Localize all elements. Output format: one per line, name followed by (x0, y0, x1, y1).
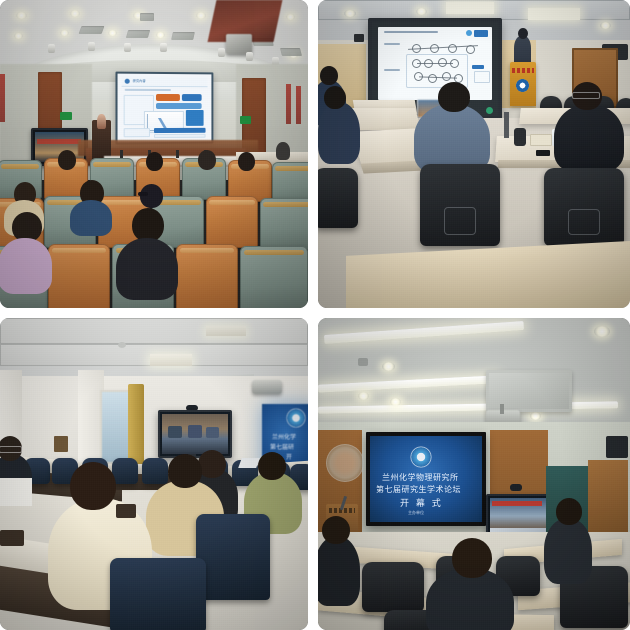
attendee-head (198, 450, 226, 478)
chair (142, 458, 168, 484)
auditorium-seat (206, 196, 258, 248)
auditorium-seat (48, 244, 110, 308)
ceiling-vent (140, 13, 154, 21)
slide-label (384, 43, 400, 45)
office-chair (196, 514, 270, 600)
slide-subheading (125, 89, 171, 91)
slide-badge (474, 30, 488, 37)
office-chair (110, 558, 206, 630)
auditorium-seat (176, 244, 238, 308)
slide-note-box (474, 71, 490, 83)
institute-emblem-icon (286, 408, 306, 428)
institute-wall-seal (326, 444, 364, 482)
tv-feed-person (206, 427, 219, 438)
tv-red-banner (492, 501, 542, 506)
ceiling-projector (226, 34, 252, 54)
attendee-head (452, 538, 492, 578)
slide-note-box (124, 128, 150, 137)
auditorium-seat (260, 198, 308, 250)
eyeglasses-icon (0, 446, 22, 453)
ceiling-sensor-icon (358, 358, 368, 366)
track-spotlight (88, 42, 95, 51)
office-chair (544, 168, 624, 246)
tissue-box (116, 504, 136, 518)
slide-title-line (384, 31, 438, 33)
tv-feed-person (188, 425, 202, 438)
slide-orange-tab (156, 94, 180, 101)
attendee-head (58, 150, 76, 170)
ceiling-air-conditioner (486, 370, 572, 412)
chair (112, 458, 138, 484)
ceiling-downlight (70, 10, 80, 17)
projection-line-3: 开 (286, 452, 292, 461)
slide-footer: 主办单位 (408, 510, 424, 516)
ceiling-vent (79, 26, 105, 34)
presenter-head (518, 28, 528, 39)
ceiling-tile (0, 318, 308, 344)
track-spotlight (246, 52, 253, 61)
attendee-head (258, 452, 286, 480)
wall-accent-strip (286, 84, 291, 124)
projection-line-1: 兰州化学 (272, 432, 296, 441)
chair (362, 562, 424, 612)
attendee-head (70, 462, 116, 510)
molecule-ring (430, 44, 439, 53)
wall-accent-strip (296, 86, 301, 124)
slide-table-header (154, 128, 206, 133)
slide-bullet-icon (125, 79, 130, 84)
office-chair (420, 164, 500, 246)
slide-table-row (154, 134, 206, 138)
ceiling-downlight (416, 8, 427, 15)
ceiling-downlight (600, 22, 611, 29)
office-chair (318, 168, 358, 228)
conference-room-scene: 兰州化学 第七届研 开 (0, 318, 308, 630)
tissue-box (0, 530, 24, 546)
attendee-body (0, 238, 52, 294)
track-spotlight (48, 44, 55, 53)
attendee-head (324, 86, 346, 109)
slide-badge-dot (466, 30, 472, 36)
attendee-head (438, 82, 470, 112)
ceiling-downlight (108, 30, 117, 36)
cap-brim (138, 192, 148, 196)
attendee-head (238, 152, 255, 171)
ceiling-downlight (390, 398, 401, 406)
smartphone (536, 150, 550, 156)
slide-title-line-3: 开 幕 式 (400, 496, 443, 509)
attendee-head (320, 66, 338, 85)
molecule-ring (412, 44, 421, 53)
ceiling-projector[interactable] (252, 380, 282, 394)
attendee-head (556, 498, 582, 525)
slide-surface (378, 27, 492, 100)
ceiling-downlight (60, 30, 69, 36)
slide-heading: 研究内容 (133, 79, 146, 83)
attendee-head (132, 208, 164, 242)
paper-tray (530, 134, 552, 146)
ceiling-vent (126, 30, 150, 38)
projection-screen-frame: 兰州化学物理研究所 第七届研究生学术论坛 开 幕 式 主办单位 (366, 432, 486, 526)
podium-banner-text (512, 68, 534, 73)
tv-feed-person (168, 426, 182, 438)
laptop (238, 458, 260, 468)
attendee-body (426, 568, 514, 630)
institute-emblem-icon (410, 446, 432, 468)
ceiling-downlight (382, 362, 395, 371)
seminar-room-scene (318, 0, 630, 308)
auditorium-scene: 研究内容 (0, 0, 308, 308)
attendee-body (544, 518, 592, 584)
attendee-head (168, 454, 202, 488)
attendee-body (554, 104, 624, 172)
ceiling-downlight (156, 32, 165, 38)
slide-blue-bar (156, 103, 202, 109)
wall-camera-icon (354, 34, 364, 42)
attendee (276, 142, 290, 160)
slide-callout (186, 110, 204, 126)
projector-mount (500, 404, 504, 414)
attendee-head (198, 150, 216, 170)
slide-header: 研究内容 (122, 77, 208, 88)
ceiling-downlight (286, 14, 295, 20)
institute-emblem-icon (516, 79, 529, 92)
eyeglasses-icon (572, 92, 600, 99)
track-spotlight (124, 43, 131, 52)
ceiling-downlight (196, 12, 206, 19)
attendee-body (318, 102, 360, 164)
photo-collage: 研究内容 (0, 0, 630, 630)
slide-title-line-1: 兰州化学物理研究所 (382, 472, 459, 483)
projection-line-2: 第七届研 (270, 442, 294, 451)
wall-accent-strip (0, 74, 5, 122)
ceiling-vent (280, 48, 302, 56)
attendee-body (318, 536, 360, 606)
tv-camera-icon (510, 484, 522, 491)
ceiling-downlight (344, 10, 356, 17)
track-spotlight (160, 43, 167, 52)
photo-bottom-left[interactable]: 兰州化学 第七届研 开 (0, 318, 308, 630)
projection-screen: 兰州化学物理研究所 第七届研究生学术论坛 开 幕 式 主办单位 (370, 436, 482, 522)
photo-top-left[interactable]: 研究内容 (0, 0, 308, 308)
ceiling-light-panel (150, 354, 192, 366)
attendee-body (70, 200, 112, 236)
ceiling-downlight (16, 12, 27, 19)
smoke-detector-icon (118, 342, 126, 348)
slide-arrow (472, 65, 484, 69)
podium (510, 62, 536, 106)
ceiling-downlight (358, 392, 369, 400)
ceiling-vent (171, 32, 195, 40)
ceiling-downlight (14, 33, 23, 39)
table-microphone (120, 150, 123, 158)
exit-sign (240, 116, 251, 124)
attendee-shirt (0, 478, 32, 506)
track-spotlight (218, 48, 225, 57)
ceiling-downlight (594, 326, 610, 337)
status-dot-icon (486, 107, 493, 114)
wall-plaque (54, 436, 68, 452)
slide-label (384, 69, 400, 71)
auditorium-seat (240, 246, 308, 308)
slide-blue-tab (182, 94, 202, 101)
photo-bottom-right[interactable]: 兰州化学物理研究所 第七届研究生学术论坛 开 幕 式 主办单位 (318, 318, 630, 630)
attendee-body (116, 238, 178, 300)
wall-speaker (606, 436, 628, 458)
tv-banner (37, 139, 81, 144)
wall-tv[interactable] (158, 410, 232, 458)
molecule-ring (466, 45, 475, 54)
attendee-head-with-cap (140, 184, 163, 208)
attendee-head (146, 152, 163, 171)
speaker-person (97, 114, 106, 129)
molecule-ring (448, 44, 457, 53)
ceiling-light-panel (206, 326, 246, 336)
slide-title-line-2: 第七届研究生学术论坛 (376, 484, 461, 495)
ceiling-light-panel (528, 8, 580, 20)
microphone-stand (504, 112, 509, 138)
lecture-room-scene: 兰州化学物理研究所 第七届研究生学术论坛 开 幕 式 主办单位 (318, 318, 630, 630)
projection-screen: 研究内容 (115, 72, 213, 145)
ceiling-light-panel (446, 2, 494, 14)
photo-top-right[interactable] (318, 0, 630, 308)
bag (514, 128, 526, 146)
table-microphone (176, 150, 179, 158)
exit-sign (60, 112, 72, 120)
attendee-head (322, 516, 350, 544)
ceiling-downlight (530, 412, 541, 420)
